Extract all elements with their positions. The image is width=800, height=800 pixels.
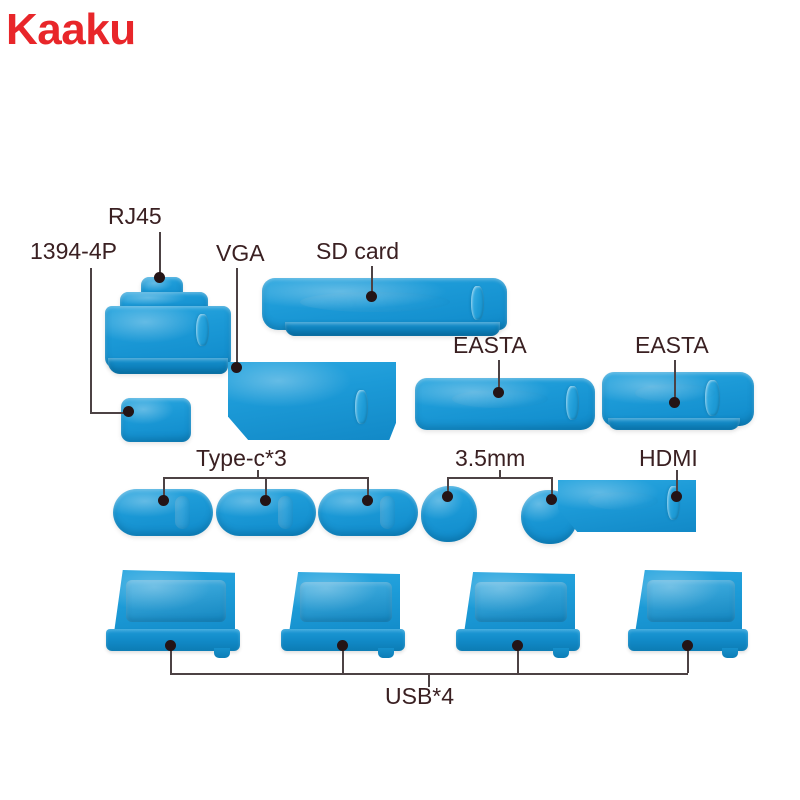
dot-1394-4p <box>123 406 134 417</box>
dot-easta-right <box>669 397 680 408</box>
dot-sd-card <box>366 291 377 302</box>
dot-type-c-1 <box>158 495 169 506</box>
plug-vga-body <box>228 362 396 440</box>
plug-usb-2-recess <box>300 582 392 622</box>
product-photo: Kaaku 1394-4P RJ45 VGA SD card EASTA EAS… <box>0 0 800 800</box>
label-1394-4p: 1394-4P <box>30 240 117 263</box>
plug-sd-card-nub <box>471 286 484 320</box>
dot-rj45 <box>154 272 165 283</box>
label-rj45: RJ45 <box>108 205 162 228</box>
leader-vga <box>236 268 238 368</box>
plug-usb-3-recess <box>475 582 567 622</box>
plug-usb-1-foot <box>214 648 230 658</box>
plug-type-c-1-band <box>175 496 190 529</box>
plug-rj45-nub <box>196 314 209 346</box>
label-vga: VGA <box>216 242 265 265</box>
dot-usb-1 <box>165 640 176 651</box>
plug-usb-4-foot <box>722 648 738 658</box>
label-hdmi: HDMI <box>639 447 698 470</box>
dot-3-5mm-2 <box>546 494 557 505</box>
dot-usb-3 <box>512 640 523 651</box>
plug-sd-card-base <box>285 322 500 336</box>
leader-3-5mm-stem <box>499 470 501 478</box>
plug-usb-4-recess <box>647 580 735 622</box>
dot-type-c-2 <box>260 495 271 506</box>
dot-hdmi <box>671 491 682 502</box>
dot-3-5mm-1 <box>442 491 453 502</box>
plug-usb-2-foot <box>378 648 394 658</box>
label-sd-card: SD card <box>316 240 399 263</box>
dot-usb-2 <box>337 640 348 651</box>
dot-vga <box>231 362 242 373</box>
dot-usb-4 <box>682 640 693 651</box>
label-easta-left: EASTA <box>453 334 527 357</box>
brand-logo: Kaaku <box>6 8 136 52</box>
dot-easta-left <box>493 387 504 398</box>
plug-hdmi-highlight <box>588 492 658 510</box>
leader-1394-4p-vertical <box>90 268 92 413</box>
dot-type-c-3 <box>362 495 373 506</box>
leader-type-c-stem <box>257 470 259 478</box>
plug-usb-3-foot <box>553 648 569 658</box>
leader-usb-stem <box>428 673 430 687</box>
plug-rj45-base <box>108 358 228 374</box>
label-3-5mm: 3.5mm <box>455 447 525 470</box>
plug-easta-left-nub <box>566 386 579 420</box>
plug-usb-1-recess <box>126 580 226 622</box>
label-usb: USB*4 <box>385 685 454 708</box>
plug-easta-right-base <box>608 418 740 430</box>
plug-1394-4p-body <box>121 398 191 442</box>
label-type-c: Type-c*3 <box>196 447 287 470</box>
plug-vga-nub <box>355 390 368 424</box>
plug-type-c-2-band <box>278 496 293 529</box>
plug-type-c-3-band <box>380 496 395 529</box>
label-easta-right: EASTA <box>635 334 709 357</box>
leader-easta-right <box>674 360 676 402</box>
